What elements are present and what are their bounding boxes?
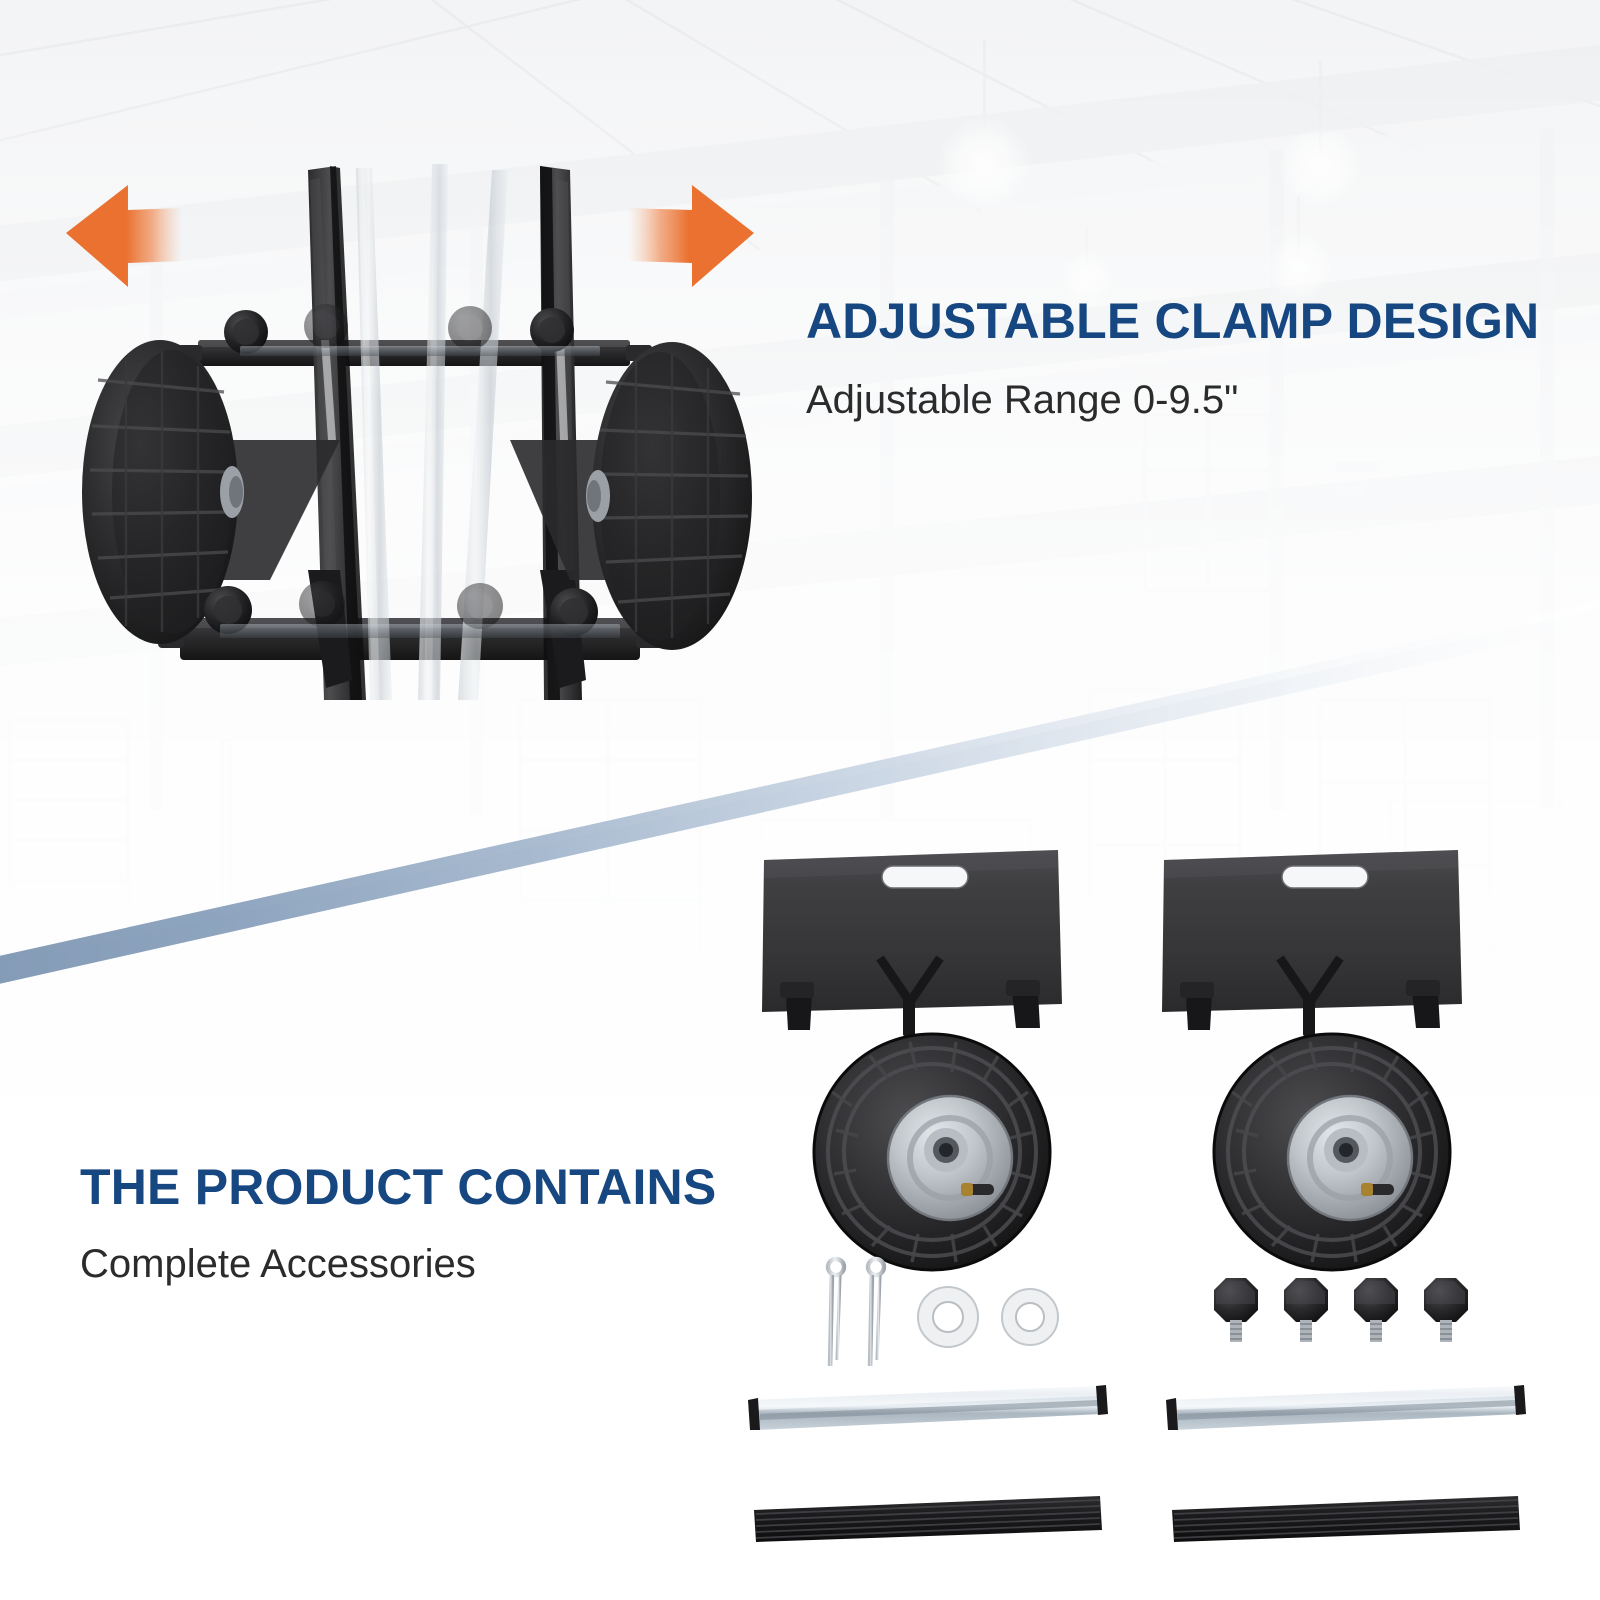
top-subline: Adjustable Range 0-9.5": [806, 378, 1238, 423]
wheel-part-1: [814, 1034, 1050, 1270]
bottom-subline: Complete Accessories: [80, 1242, 476, 1287]
steel-bar-part-2: [1166, 1385, 1526, 1430]
cotter-pin-part-1: [828, 1259, 844, 1366]
wheel-right: [586, 342, 752, 650]
product-feature-image: ADJUSTABLE CLAMP DESIGN Adjustable Range…: [0, 0, 1600, 1600]
steel-bar-part-1: [748, 1385, 1108, 1430]
star-knob-part-3: [1354, 1278, 1398, 1342]
bottom-headline: THE PRODUCT CONTAINS: [80, 1158, 716, 1216]
valve-stem-icon: [1361, 1183, 1394, 1196]
cotter-pin-part-2: [868, 1259, 884, 1366]
rubber-strip-part-1: [754, 1496, 1102, 1542]
flat-washer-part-2: [1002, 1289, 1058, 1345]
top-headline: ADJUSTABLE CLAMP DESIGN: [806, 292, 1539, 350]
valve-stem-icon: [961, 1183, 994, 1196]
star-knob-part-1: [1214, 1278, 1258, 1342]
star-knob-part-2: [1284, 1278, 1328, 1342]
accessories-parts-layout: [740, 830, 1600, 1570]
rubber-strip-part-2: [1172, 1496, 1520, 1542]
star-knob-part-4: [1424, 1278, 1468, 1342]
panel-dolly-product-photo: [40, 140, 780, 720]
clamp-panel-part-1: [762, 850, 1062, 1036]
flat-washer-part-1: [918, 1287, 978, 1347]
clamp-panel-part-2: [1162, 850, 1462, 1036]
wheel-part-2: [1214, 1034, 1450, 1270]
